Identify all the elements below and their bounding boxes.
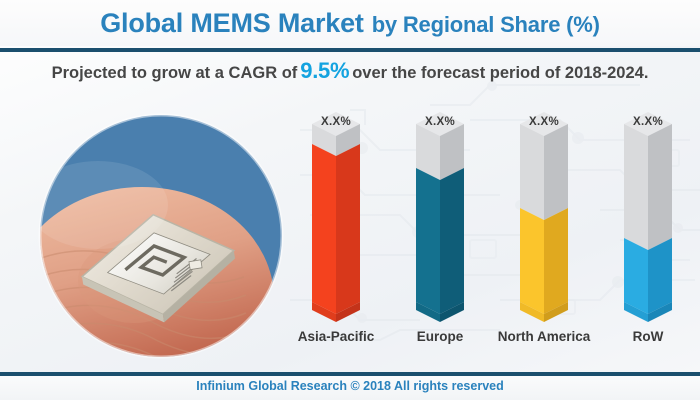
title-main-text: Global MEMS Market <box>100 8 363 39</box>
infographic-root: Global MEMS Market by Regional Share (%)… <box>0 0 700 400</box>
footer-copyright: Infinium Global Research © 2018 All righ… <box>0 379 700 393</box>
bar-group-row[interactable]: X.X% RoW <box>596 110 700 362</box>
fingertip-chip-illustration <box>38 113 284 359</box>
subtitle-suffix: over the forecast period of 2018-2024. <box>352 64 648 83</box>
category-label-europe: Europe <box>388 329 492 345</box>
bar-column-north-america <box>492 110 596 328</box>
bar-group-asia-pacific[interactable]: X.X% Asia-Pacific <box>284 110 388 362</box>
category-label-asia-pacific: Asia-Pacific <box>284 329 388 345</box>
title-sub-text: by Regional Share (%) <box>372 12 600 38</box>
category-label-north-america: North America <box>492 329 596 345</box>
page-title: Global MEMS Market by Regional Share (%) <box>0 8 700 46</box>
mems-chip-photo <box>38 113 284 359</box>
bar-column-row <box>596 110 700 328</box>
category-label-row: RoW <box>596 329 700 345</box>
bar-column-asia-pacific <box>284 110 388 328</box>
bar-group-north-america[interactable]: X.X% North America <box>492 110 596 362</box>
bar-group-europe[interactable]: X.X% Europe <box>388 110 492 362</box>
subtitle-prefix: Projected to grow at a CAGR of <box>52 64 298 83</box>
subtitle: Projected to grow at a CAGR of 9.5% over… <box>0 58 700 90</box>
title-divider <box>0 48 700 52</box>
cagr-highlight: 9.5% <box>300 58 349 84</box>
bar-chart: X.X% Asia-Pacific X.X% Europe <box>284 110 700 362</box>
bar-column-europe <box>388 110 492 328</box>
